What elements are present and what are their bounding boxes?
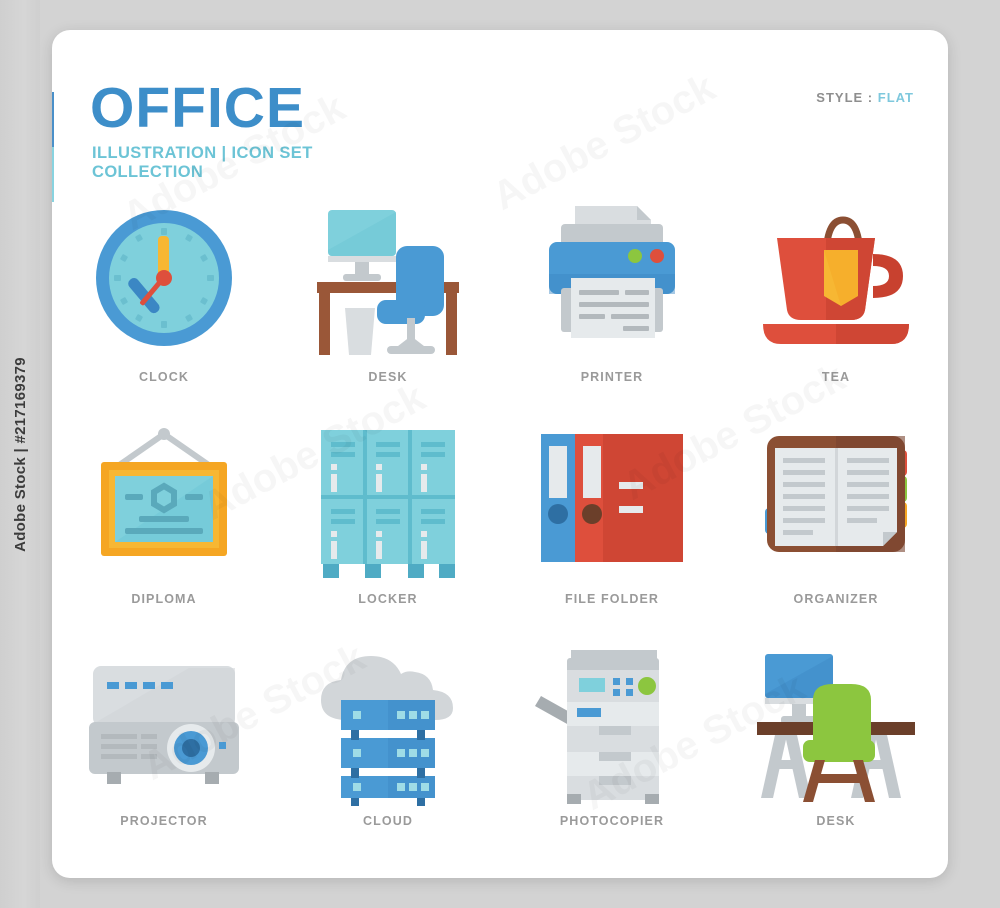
locker-icon (303, 420, 473, 590)
icon-label: DESK (816, 814, 855, 828)
icon-label: DIPLOMA (131, 592, 196, 606)
accent-bar-top (52, 92, 54, 147)
accent-bar-bottom (52, 147, 54, 202)
style-tag: STYLE : FLAT (816, 90, 914, 105)
icon-grid: CLOCK (52, 198, 948, 864)
organizer-icon (751, 420, 921, 590)
icon-cell-organizer[interactable]: ORGANIZER (724, 420, 948, 642)
page-subtitle: ILLUSTRATION | ICON SET COLLECTION (92, 144, 313, 182)
stock-watermark-sidebar: Adobe Stock | #217169379 (0, 0, 40, 908)
icon-cell-photocopier[interactable]: PHOTOCOPIER (500, 642, 724, 864)
icon-cell-desk[interactable]: DESK (276, 198, 500, 420)
icon-label: FILE FOLDER (565, 592, 659, 606)
icon-cell-desk-2[interactable]: DESK (724, 642, 948, 864)
icon-cell-locker[interactable]: LOCKER (276, 420, 500, 642)
stock-watermark-text: Adobe Stock | #217169379 (12, 357, 29, 552)
icon-cell-diploma[interactable]: DIPLOMA (52, 420, 276, 642)
icon-label: ORGANIZER (794, 592, 879, 606)
icon-label: CLOCK (139, 370, 189, 384)
icon-cell-cloud[interactable]: CLOUD (276, 642, 500, 864)
page-title: OFFICE (90, 80, 305, 137)
icon-set-card: Adobe Stock Adobe Stock Adobe Stock Adob… (52, 30, 948, 878)
printer-icon (527, 198, 697, 368)
diploma-icon (79, 420, 249, 590)
icon-cell-projector[interactable]: PROJECTOR (52, 642, 276, 864)
icon-label: PHOTOCOPIER (560, 814, 664, 828)
cloud-icon (303, 642, 473, 812)
file-folder-icon (527, 420, 697, 590)
desk-icon (303, 198, 473, 368)
icon-label: CLOUD (363, 814, 413, 828)
projector-icon (79, 642, 249, 812)
card-header: OFFICE ILLUSTRATION | ICON SET COLLECTIO… (52, 30, 948, 195)
tea-icon (751, 198, 921, 368)
icon-label: PROJECTOR (120, 814, 207, 828)
icon-cell-file-folder[interactable]: FILE FOLDER (500, 420, 724, 642)
photocopier-icon (527, 642, 697, 812)
icon-label: PRINTER (581, 370, 644, 384)
clock-icon (79, 198, 249, 368)
icon-label: LOCKER (358, 592, 417, 606)
icon-label: TEA (822, 370, 850, 384)
desk-2-icon (751, 642, 921, 812)
style-tag-label: STYLE : (816, 90, 873, 105)
style-tag-value: FLAT (878, 90, 914, 105)
icon-cell-clock[interactable]: CLOCK (52, 198, 276, 420)
icon-label: DESK (368, 370, 407, 384)
icon-cell-printer[interactable]: PRINTER (500, 198, 724, 420)
icon-cell-tea[interactable]: TEA (724, 198, 948, 420)
